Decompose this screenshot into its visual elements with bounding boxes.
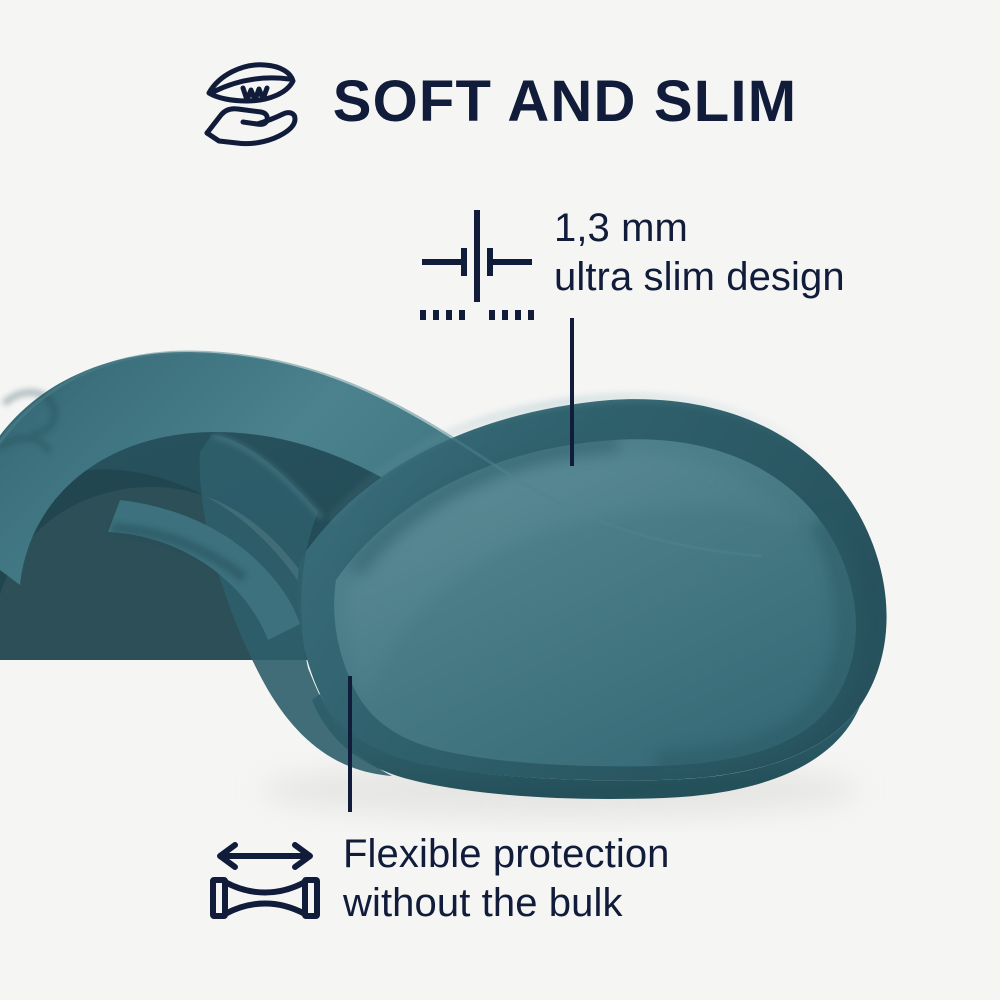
- product-feature-image: SOFT AND SLIM: [0, 0, 1000, 1000]
- feather-in-hand-icon: [203, 59, 299, 147]
- thickness-measure-icon: [418, 202, 536, 320]
- page-title: SOFT AND SLIM: [333, 73, 798, 131]
- stretch-arrow-icon: [205, 840, 325, 922]
- callout-flexibility: Flexible protection without the bulk: [205, 832, 670, 928]
- callout-thickness: 1,3 mm ultra slim design: [418, 200, 845, 320]
- callout-flexibility-text: Flexible protection without the bulk: [343, 830, 670, 928]
- callout-flexibility-line1: Flexible protection: [343, 830, 670, 879]
- leader-line-flexibility: [348, 676, 352, 812]
- leader-line-thickness: [570, 318, 574, 466]
- callout-thickness-line1: 1,3 mm: [554, 204, 845, 253]
- callout-thickness-text: 1,3 mm ultra slim design: [554, 204, 845, 302]
- callout-thickness-line2: ultra slim design: [554, 253, 845, 302]
- header: SOFT AND SLIM: [0, 56, 1000, 148]
- callout-flexibility-line2: without the bulk: [343, 879, 670, 928]
